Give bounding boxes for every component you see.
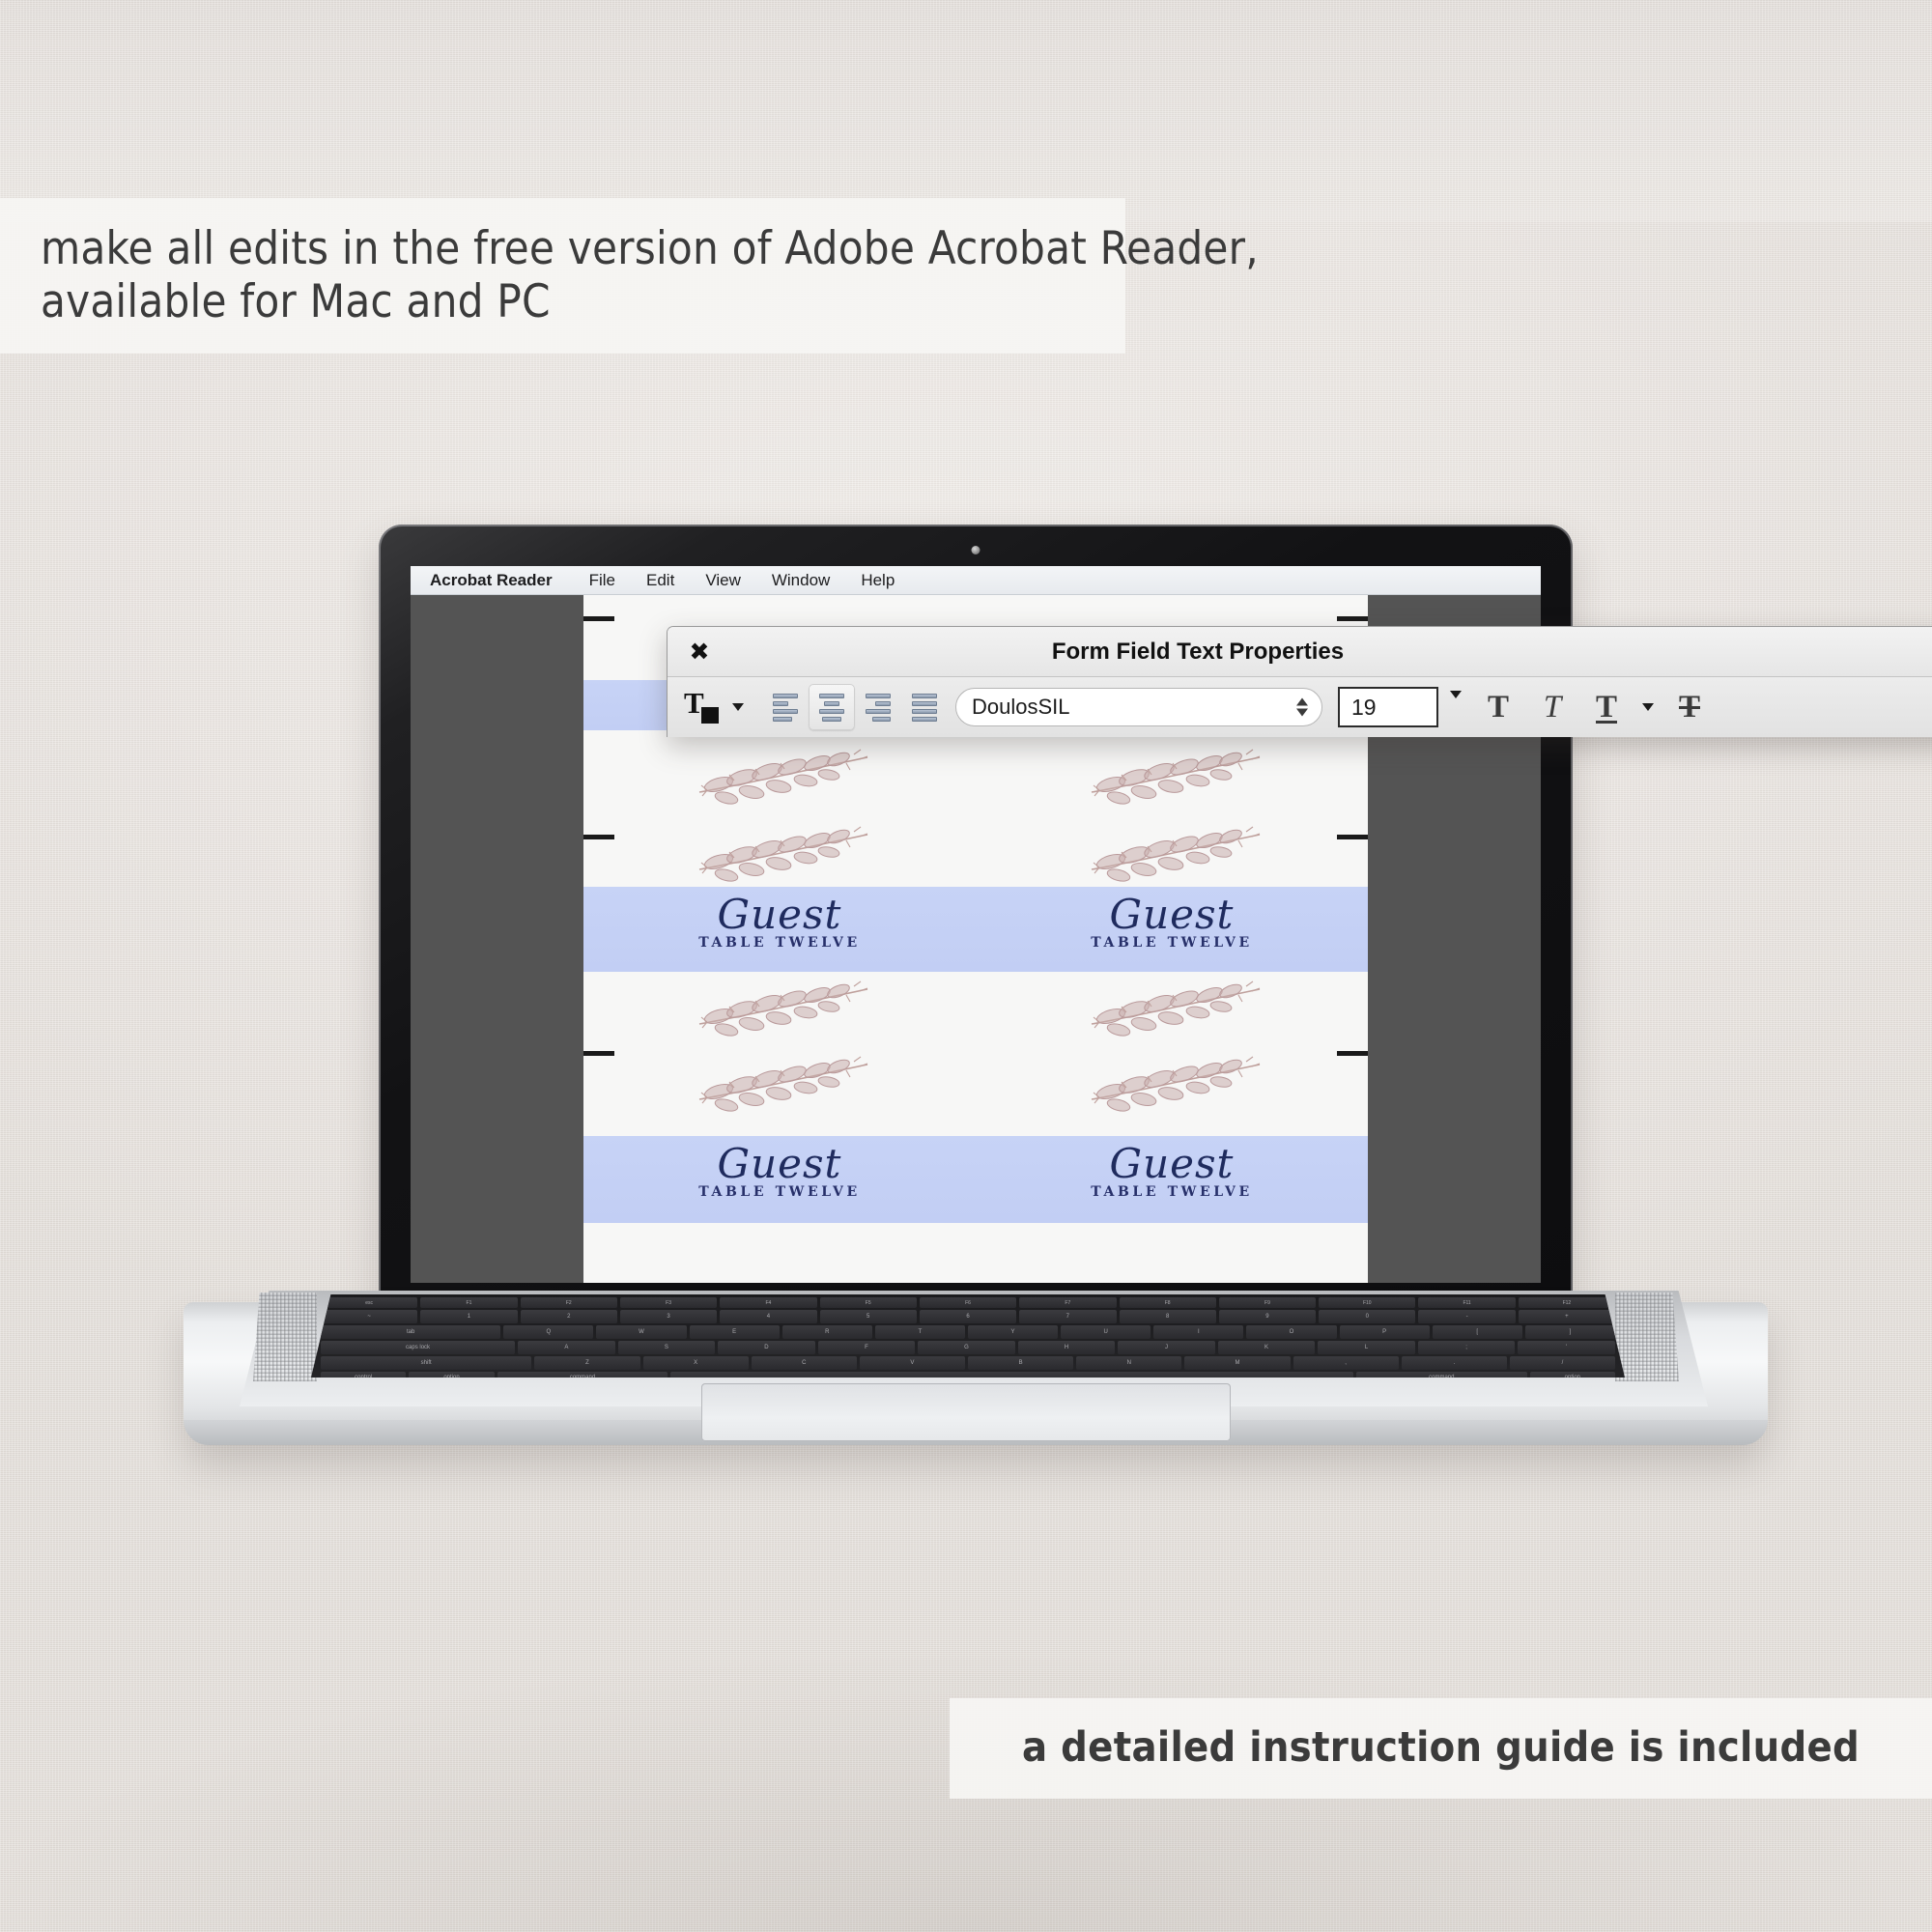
key-option[interactable]: option	[1530, 1372, 1615, 1378]
key-f11[interactable]: F11	[1418, 1297, 1515, 1308]
key-f7[interactable]: F7	[1019, 1297, 1116, 1308]
key-3[interactable]: 3	[620, 1310, 717, 1323]
key-u[interactable]: U	[1061, 1325, 1151, 1339]
key--[interactable]: ]	[1525, 1325, 1615, 1339]
key-8[interactable]: 8	[1120, 1310, 1216, 1323]
dialog-title: Form Field Text Properties	[668, 639, 1932, 666]
align-center-button[interactable]	[809, 684, 855, 730]
key-f12[interactable]: F12	[1519, 1297, 1615, 1308]
key-caps-lock[interactable]: caps lock	[321, 1341, 515, 1354]
floral-sprig-icon	[1084, 974, 1267, 1041]
key-control[interactable]: control	[321, 1372, 406, 1378]
key--[interactable]: /	[1510, 1356, 1615, 1370]
key-9[interactable]: 9	[1219, 1310, 1316, 1323]
key-f1[interactable]: F1	[420, 1297, 517, 1308]
key-1[interactable]: 1	[420, 1310, 517, 1323]
text-color-T-icon: T	[684, 692, 717, 723]
key-x[interactable]: X	[643, 1356, 749, 1370]
key--[interactable]: '	[1518, 1341, 1615, 1354]
key-f8[interactable]: F8	[1120, 1297, 1216, 1308]
text-properties-toolbar: T	[668, 677, 1932, 737]
key-m[interactable]: M	[1184, 1356, 1290, 1370]
key-p[interactable]: P	[1340, 1325, 1430, 1339]
key-a[interactable]: A	[518, 1341, 615, 1354]
chevron-down-icon	[732, 703, 744, 711]
form-field-text-properties-dialog[interactable]: ✖ Form Field Text Properties T	[667, 626, 1932, 737]
webcam-icon	[972, 546, 980, 554]
key-f3[interactable]: F3	[620, 1297, 717, 1308]
key-t[interactable]: T	[875, 1325, 965, 1339]
guest-name-field[interactable]: Guest	[583, 895, 976, 935]
crop-mark-top-left	[583, 616, 614, 621]
trackpad[interactable]	[701, 1383, 1231, 1441]
align-right-icon	[866, 694, 891, 722]
chevron-up-icon	[1296, 698, 1308, 706]
bold-button[interactable]: T	[1471, 683, 1525, 731]
table-label: TABLE TWELVE	[976, 935, 1368, 951]
text-color-dropdown-button[interactable]	[724, 684, 753, 730]
caption-top: make all edits in the free version of Ad…	[0, 198, 1125, 354]
chevron-down-icon	[1450, 691, 1462, 715]
place-card-r3c1: Guest TABLE TWELVE	[583, 1144, 976, 1200]
key-r[interactable]: R	[782, 1325, 872, 1339]
key--[interactable]: .	[1402, 1356, 1507, 1370]
table-label: TABLE TWELVE	[583, 1184, 976, 1200]
key-tab[interactable]: tab	[321, 1325, 500, 1339]
key-d[interactable]: D	[718, 1341, 815, 1354]
underline-dropdown-button[interactable]	[1634, 684, 1662, 730]
floral-sprig-icon	[692, 974, 875, 1041]
wall-top-band	[0, 0, 1932, 222]
dialog-title-bar: ✖ Form Field Text Properties	[668, 627, 1932, 677]
crop-mark-mid-left	[583, 835, 614, 839]
floral-sprig-icon	[1084, 819, 1267, 887]
crop-mark-low-right	[1337, 1051, 1368, 1056]
key-command[interactable]: command	[1356, 1372, 1527, 1378]
key-4[interactable]: 4	[720, 1310, 816, 1323]
key--[interactable]: ;	[1418, 1341, 1516, 1354]
align-justify-button[interactable]	[901, 684, 948, 730]
key-s[interactable]: S	[618, 1341, 716, 1354]
key-5[interactable]: 5	[820, 1310, 917, 1323]
place-card-r3c2: Guest TABLE TWELVE	[976, 1144, 1368, 1200]
key-f[interactable]: F	[818, 1341, 916, 1354]
align-left-icon	[773, 694, 798, 722]
key-o[interactable]: O	[1246, 1325, 1336, 1339]
key-2[interactable]: 2	[521, 1310, 617, 1323]
menu-item-acrobat-reader[interactable]: Acrobat Reader	[426, 566, 574, 595]
key-g[interactable]: G	[918, 1341, 1015, 1354]
key-q[interactable]: Q	[503, 1325, 593, 1339]
guest-name-field[interactable]: Guest	[583, 1144, 976, 1184]
key-f5[interactable]: F5	[820, 1297, 917, 1308]
keyboard-row-home: caps lockASDFGHJKL;'	[311, 1341, 1625, 1354]
key--[interactable]: -	[1418, 1310, 1515, 1323]
table-label: TABLE TWELVE	[583, 935, 976, 951]
key--[interactable]: ~	[321, 1310, 417, 1323]
align-right-button[interactable]	[855, 684, 901, 730]
place-card-r2c1: Guest TABLE TWELVE	[583, 895, 976, 951]
crop-mark-low-left	[583, 1051, 614, 1056]
font-family-stepper-icon[interactable]	[1296, 698, 1308, 717]
keyboard-row-zxcv: shiftZXCVBNM,./	[311, 1356, 1625, 1370]
key-f6[interactable]: F6	[920, 1297, 1016, 1308]
key-v[interactable]: V	[860, 1356, 965, 1370]
keyboard[interactable]: escF1F2F3F4F5F6F7F8F9F10F11F12 ~12345678…	[311, 1294, 1625, 1378]
key--[interactable]: ,	[1293, 1356, 1399, 1370]
keyboard-row-modifier: controloptioncommandcommandoption	[311, 1372, 1625, 1378]
align-justify-icon	[912, 694, 937, 722]
align-left-button[interactable]	[762, 684, 809, 730]
keyboard-row-numbers: ~1234567890-+	[311, 1310, 1625, 1323]
key-h[interactable]: H	[1018, 1341, 1116, 1354]
key-f9[interactable]: F9	[1219, 1297, 1316, 1308]
key-n[interactable]: N	[1076, 1356, 1181, 1370]
key-option[interactable]: option	[409, 1372, 494, 1378]
key-z[interactable]: Z	[534, 1356, 639, 1370]
mac-menu-bar: Acrobat Reader File Edit View Window Hel…	[411, 566, 1541, 595]
key-0[interactable]: 0	[1319, 1310, 1415, 1323]
underline-button[interactable]: T	[1579, 683, 1634, 731]
floral-sprig-icon	[692, 819, 875, 887]
key-f4[interactable]: F4	[720, 1297, 816, 1308]
key-f10[interactable]: F10	[1319, 1297, 1415, 1308]
key-i[interactable]: I	[1153, 1325, 1243, 1339]
close-icon[interactable]: ✖	[687, 639, 712, 665]
place-card-r2c2: Guest TABLE TWELVE	[976, 895, 1368, 951]
key-c[interactable]: C	[752, 1356, 857, 1370]
align-center-icon	[819, 694, 844, 722]
crop-mark-mid-right	[1337, 835, 1368, 839]
key--[interactable]: +	[1519, 1310, 1615, 1323]
menu-item-view[interactable]: View	[690, 566, 756, 595]
font-size-value: 19	[1351, 695, 1377, 721]
font-size-dropdown-button[interactable]	[1450, 698, 1462, 716]
font-family-value: DoulosSIL	[972, 695, 1070, 720]
key-shift[interactable]: shift	[321, 1356, 531, 1370]
key-command[interactable]: command	[497, 1372, 668, 1378]
text-color-button[interactable]: T	[677, 684, 724, 730]
font-size-input[interactable]: 19	[1338, 687, 1438, 727]
key-esc[interactable]: esc	[321, 1297, 417, 1308]
key-f2[interactable]: F2	[521, 1297, 617, 1308]
key-6[interactable]: 6	[920, 1310, 1016, 1323]
menu-item-help[interactable]: Help	[845, 566, 910, 595]
crop-mark-top-right	[1337, 616, 1368, 621]
chevron-down-icon	[1296, 709, 1308, 717]
menu-item-window[interactable]: Window	[756, 566, 845, 595]
guest-name-field[interactable]: Guest	[976, 895, 1368, 935]
key-l[interactable]: L	[1318, 1341, 1415, 1354]
key-j[interactable]: J	[1118, 1341, 1215, 1354]
floral-sprig-icon	[1084, 1049, 1267, 1117]
text-color-swatch	[701, 707, 719, 724]
floral-sprig-icon	[692, 1049, 875, 1117]
mockup-canvas: make all edits in the free version of Ad…	[0, 0, 1932, 1932]
caption-top-line-1: make all edits in the free version of Ad…	[41, 223, 1125, 276]
key-space[interactable]	[670, 1372, 1353, 1378]
keyboard-row-qwerty: tabQWERTYUIOP[]	[311, 1325, 1625, 1339]
caption-bottom: a detailed instruction guide is included	[950, 1698, 1932, 1799]
italic-button[interactable]: T	[1525, 683, 1579, 731]
key-e[interactable]: E	[690, 1325, 780, 1339]
floral-sprig-icon	[1084, 742, 1267, 810]
floral-sprig-icon	[692, 742, 875, 810]
menu-item-edit[interactable]: Edit	[631, 566, 690, 595]
font-family-select[interactable]: DoulosSIL	[955, 688, 1322, 726]
table-label: TABLE TWELVE	[976, 1184, 1368, 1200]
strikethrough-button[interactable]: T	[1662, 683, 1717, 731]
key--[interactable]: [	[1433, 1325, 1522, 1339]
key-7[interactable]: 7	[1019, 1310, 1116, 1323]
guest-name-field[interactable]: Guest	[976, 1144, 1368, 1184]
key-y[interactable]: Y	[968, 1325, 1058, 1339]
key-w[interactable]: W	[596, 1325, 686, 1339]
menu-item-file[interactable]: File	[574, 566, 631, 595]
speaker-grille-left	[253, 1293, 317, 1381]
key-k[interactable]: K	[1218, 1341, 1316, 1354]
speaker-grille-right	[1615, 1293, 1679, 1381]
caption-top-line-2: available for Mac and PC	[41, 276, 1125, 329]
key-b[interactable]: B	[968, 1356, 1073, 1370]
keyboard-row-function: escF1F2F3F4F5F6F7F8F9F10F11F12	[311, 1297, 1625, 1308]
chevron-down-icon	[1642, 703, 1654, 711]
